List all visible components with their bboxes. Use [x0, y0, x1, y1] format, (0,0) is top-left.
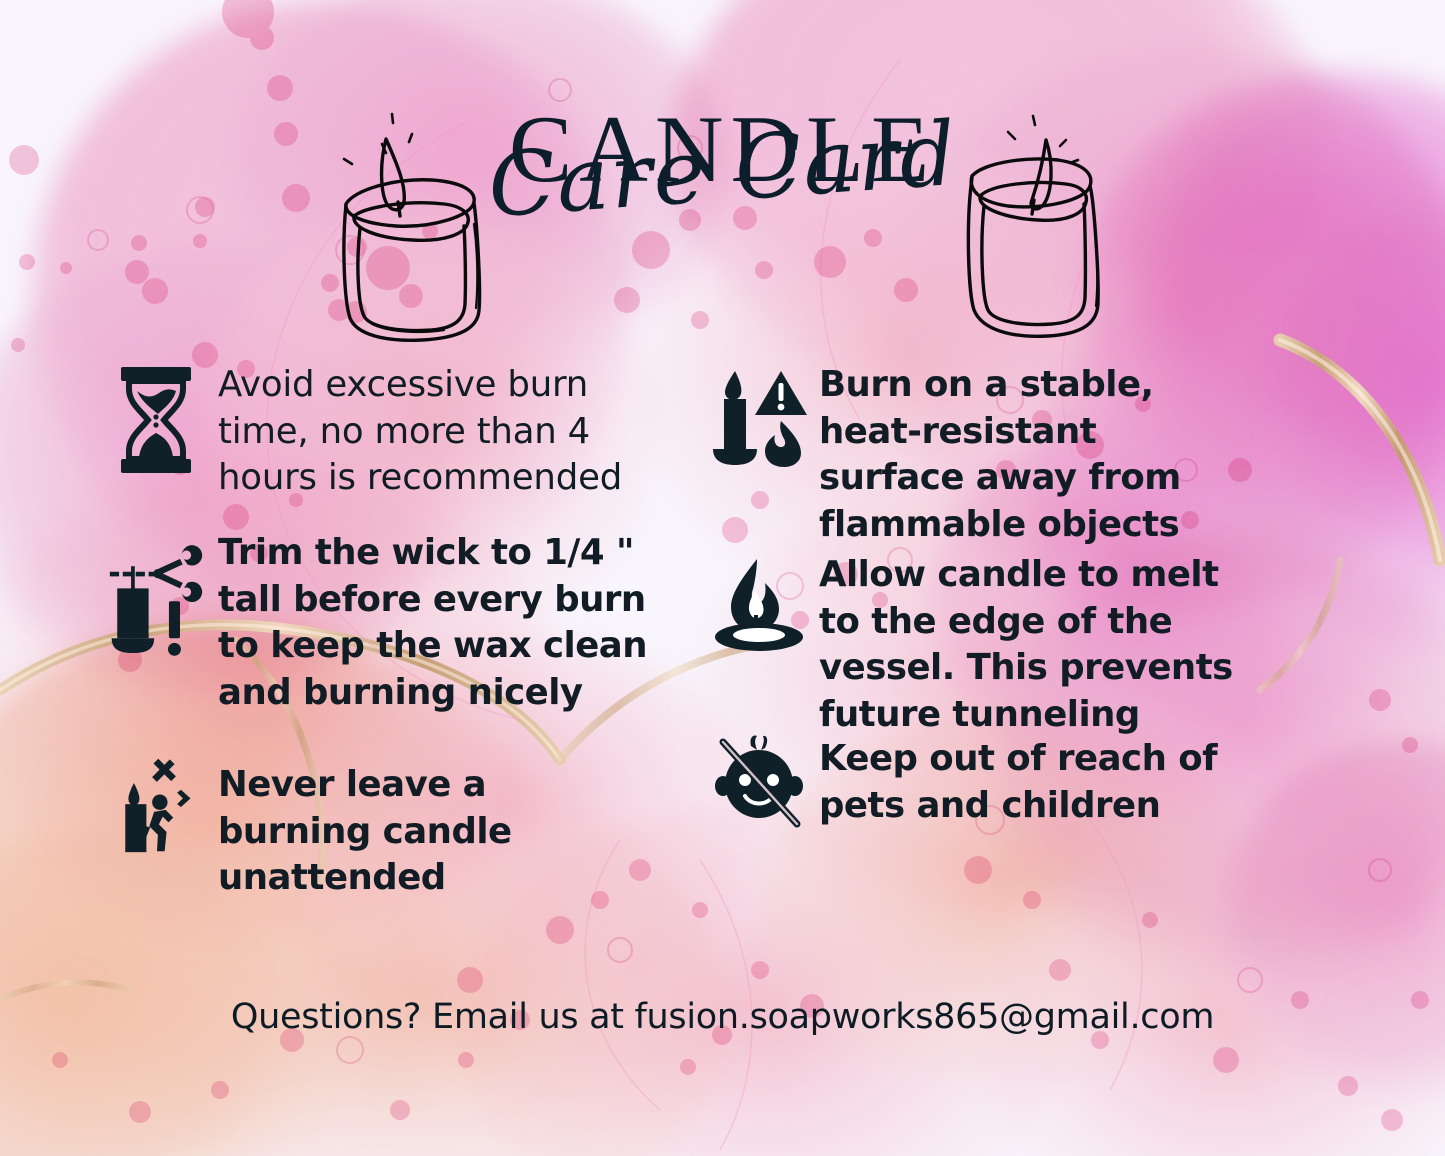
tip-keep-away: Keep out of reach of pets and children — [707, 730, 1373, 840]
hourglass-icon — [108, 358, 204, 482]
wick-trim-scissors-icon — [108, 530, 204, 680]
no-children-pets-icon — [707, 730, 811, 830]
tips-grid: Avoid excessive burn time, no more than … — [0, 358, 1445, 866]
candle-warning-flame-icon — [707, 358, 811, 476]
tip-burn-time: Avoid excessive burn time, no more than … — [108, 358, 672, 508]
tips-left-column: Avoid excessive burn time, no more than … — [0, 358, 672, 866]
tip-trim-wick: Trim the wick to 1/4 " tall before every… — [108, 530, 672, 726]
tips-right-column: Burn on a stable, heat-resistant surface… — [700, 358, 1373, 866]
tealight-flame-icon — [707, 550, 811, 660]
tip-text: Avoid excessive burn time, no more than … — [218, 358, 672, 502]
tip-unattended: Never leave a burning candle unattended — [108, 756, 672, 866]
tip-melt-edge: Allow candle to melt to the edge of the … — [707, 550, 1373, 690]
unattended-candle-icon — [108, 756, 204, 860]
candle-care-card: CANDLE Care Card — [0, 0, 1445, 1156]
tip-stable-surface: Burn on a stable, heat-resistant surface… — [707, 358, 1373, 508]
tip-text: Never leave a burning candle unattended — [218, 756, 638, 902]
tip-text: Allow candle to melt to the edge of the … — [819, 550, 1269, 738]
tip-text: Keep out of reach of pets and children — [819, 730, 1259, 829]
tip-text: Trim the wick to 1/4 " tall before every… — [218, 530, 668, 716]
tip-text: Burn on a stable, heat-resistant surface… — [819, 358, 1249, 548]
contact-footer: Questions? Email us at fusion.soapworks8… — [0, 997, 1445, 1037]
